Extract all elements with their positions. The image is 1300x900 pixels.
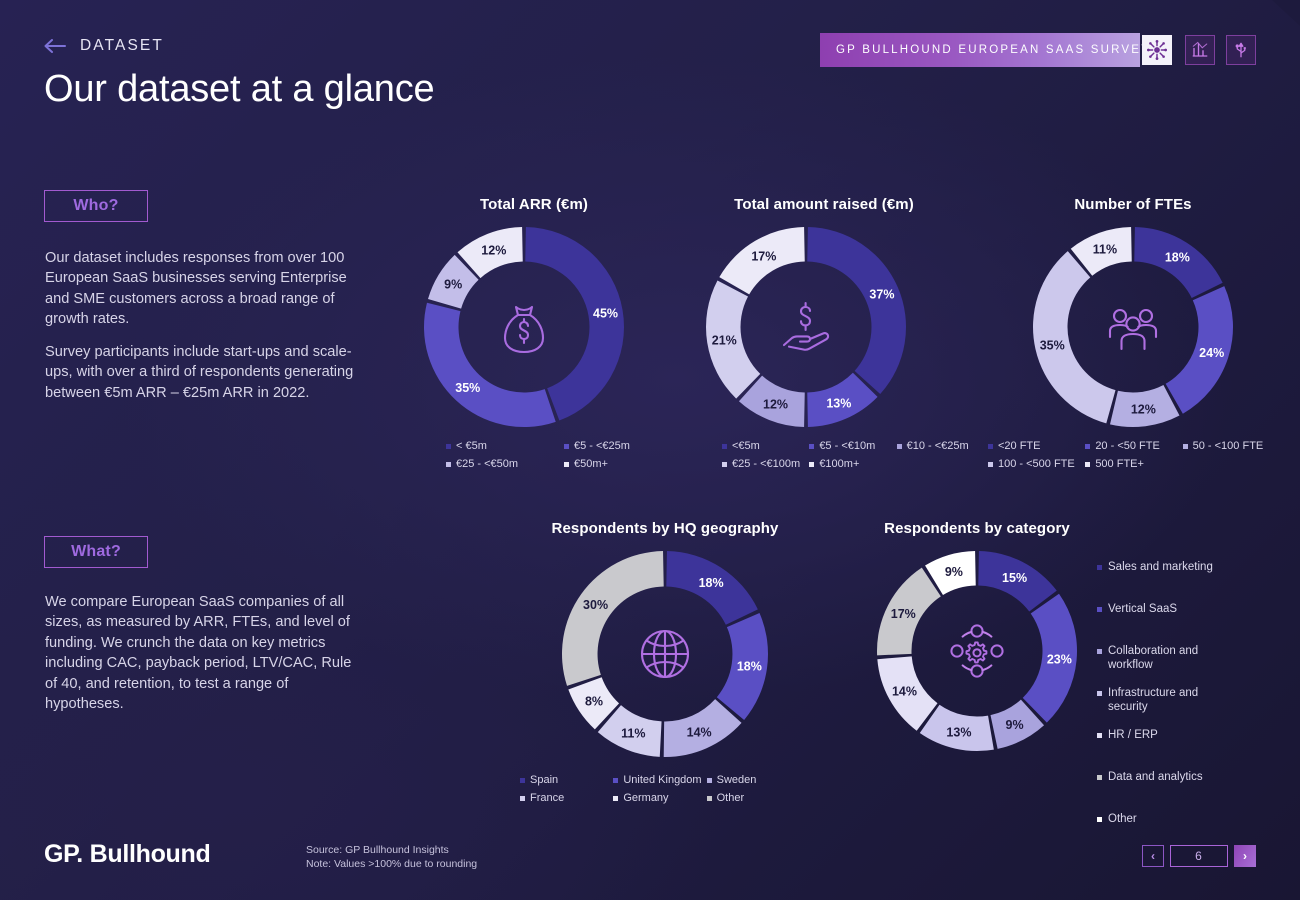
legend-label: €50m+ bbox=[574, 457, 608, 471]
legend-item: Vertical SaaS bbox=[1097, 602, 1227, 640]
legend-swatch bbox=[707, 796, 712, 801]
prev-page-button[interactable]: ‹ bbox=[1142, 845, 1164, 867]
slice-label: 13% bbox=[826, 396, 851, 410]
slice-label: 21% bbox=[712, 333, 737, 347]
legend-swatch bbox=[1097, 691, 1102, 696]
legend-swatch bbox=[446, 444, 451, 449]
brand-banner: GP BULLHOUND EUROPEAN SAAS SURVEY bbox=[820, 33, 1140, 67]
network-icon-glyph bbox=[1146, 39, 1168, 61]
slice-label: 17% bbox=[751, 249, 776, 263]
slide-canvas: DATASET Our dataset at a glance GP BULLH… bbox=[0, 0, 1300, 900]
legend-label: Infrastructure and security bbox=[1108, 686, 1227, 714]
network-icon[interactable] bbox=[1142, 35, 1172, 65]
legend-label: 20 - <50 FTE bbox=[1095, 439, 1160, 453]
legend-swatch bbox=[564, 462, 569, 467]
donut-total-arr[interactable]: 45%35%9%12% bbox=[420, 223, 648, 431]
legend-item: <€5m bbox=[722, 439, 809, 453]
legend-item: Data and analytics bbox=[1097, 770, 1227, 808]
legend-label: 50 - <100 FTE bbox=[1193, 439, 1264, 453]
who-paragraph-2: Survey participants include start-ups an… bbox=[45, 342, 357, 403]
donut-total-raised[interactable]: 37%13%12%21%17% bbox=[702, 223, 946, 431]
legend-label: Sweden bbox=[717, 773, 757, 787]
legend-item: €25 - <€100m bbox=[722, 457, 809, 471]
legend-item: Sweden bbox=[707, 773, 800, 787]
legend-label: 500 FTE+ bbox=[1095, 457, 1144, 471]
legend-item: <20 FTE bbox=[988, 439, 1085, 453]
legend-item: < €5m bbox=[446, 439, 564, 453]
chart-title: Total ARR (€m) bbox=[420, 196, 648, 213]
slice-label: 8% bbox=[585, 695, 603, 709]
legend-swatch bbox=[1097, 607, 1102, 612]
legend-label: < €5m bbox=[456, 439, 487, 453]
slice-label: 30% bbox=[583, 598, 608, 612]
legend-swatch bbox=[897, 444, 902, 449]
legend-swatch bbox=[1097, 733, 1102, 738]
legend-item: Sales and marketing bbox=[1097, 560, 1227, 598]
legend-item: Spain bbox=[520, 773, 613, 787]
who-badge-label: Who? bbox=[73, 197, 118, 215]
legend-total-raised: <€5m €5 - <€10m €10 - <€25m €25 - <€100m… bbox=[722, 439, 984, 475]
donut-slice[interactable] bbox=[1033, 251, 1115, 423]
slice-label: 11% bbox=[1093, 243, 1117, 257]
slice-label: 12% bbox=[481, 243, 506, 257]
legend-label: €100m+ bbox=[819, 457, 859, 471]
legend-swatch bbox=[809, 444, 814, 449]
back-arrow-icon[interactable] bbox=[44, 39, 66, 53]
page-title: Our dataset at a glance bbox=[44, 68, 434, 111]
donut-svg: 15%23%9%13%14%17%9% bbox=[873, 547, 1081, 755]
globe-icon bbox=[642, 631, 688, 677]
chart-hq-geography: Respondents by HQ geography 18%18%14%11%… bbox=[520, 520, 810, 809]
legend-item: HR / ERP bbox=[1097, 728, 1227, 766]
legend-item: 20 - <50 FTE bbox=[1085, 439, 1182, 453]
legend-swatch bbox=[520, 778, 525, 783]
chart-total-arr: Total ARR (€m) 45%35%9%12% < €5m €5 - <€… bbox=[420, 196, 648, 475]
slice-label: 12% bbox=[763, 397, 788, 411]
legend-label: Vertical SaaS bbox=[1108, 602, 1177, 616]
page-number[interactable]: 6 bbox=[1170, 845, 1228, 867]
legend-total-arr: < €5m €5 - <€25m €25 - <€50m €50m+ bbox=[446, 439, 682, 475]
slice-label: 11% bbox=[621, 727, 645, 741]
who-paragraph-1: Our dataset includes responses from over… bbox=[45, 248, 357, 330]
legend-label: Other bbox=[1108, 812, 1137, 826]
bar-chart-icon-glyph bbox=[1191, 41, 1209, 59]
chart-by-category: Respondents by category 15%23%9%13%14%17… bbox=[852, 520, 1102, 763]
breadcrumb: DATASET bbox=[44, 37, 164, 55]
donut-svg: 18%18%14%11%8%30% bbox=[558, 547, 772, 761]
donut-svg: 18%24%12%35%11% bbox=[1029, 223, 1237, 431]
slice-label: 37% bbox=[869, 288, 894, 302]
legend-item: €5 - <€10m bbox=[809, 439, 896, 453]
legend-item: €50m+ bbox=[564, 457, 682, 471]
note-line: Note: Values >100% due to rounding bbox=[306, 857, 477, 871]
legend-swatch bbox=[1097, 817, 1102, 822]
legend-item: Other bbox=[707, 791, 800, 805]
chart-title: Respondents by HQ geography bbox=[520, 520, 810, 537]
slice-label: 9% bbox=[1006, 718, 1024, 732]
hand-dollar-icon bbox=[784, 303, 828, 350]
slice-label: 9% bbox=[444, 278, 462, 292]
donut-slice[interactable] bbox=[807, 227, 906, 394]
donut-svg: 37%13%12%21%17% bbox=[702, 223, 910, 431]
source-line: Source: GP Bullhound Insights bbox=[306, 843, 477, 857]
network-gear-icon bbox=[951, 625, 1002, 676]
slice-label: 13% bbox=[946, 725, 971, 739]
legend-label: Other bbox=[717, 791, 745, 805]
chart-title: Total amount raised (€m) bbox=[702, 196, 946, 213]
legend-swatch bbox=[1183, 444, 1188, 449]
legend-swatch bbox=[707, 778, 712, 783]
brand-banner-label: GP BULLHOUND EUROPEAN SAAS SURVEY bbox=[836, 44, 1151, 56]
legend-swatch bbox=[722, 444, 727, 449]
legend-swatch bbox=[722, 462, 727, 467]
donut-by-category[interactable]: 15%23%9%13%14%17%9% bbox=[873, 547, 1102, 755]
legend-item: 500 FTE+ bbox=[1085, 457, 1182, 471]
legend-label: Data and analytics bbox=[1108, 770, 1203, 784]
legend-item: France bbox=[520, 791, 613, 805]
legend-swatch bbox=[988, 444, 993, 449]
legend-label: €10 - <€25m bbox=[907, 439, 969, 453]
legend-label: €5 - <€10m bbox=[819, 439, 875, 453]
legend-swatch bbox=[446, 462, 451, 467]
chart-number-of-ftes: Number of FTEs 18%24%12%35%11% <20 FTE 2… bbox=[988, 196, 1278, 475]
legend-label: €25 - <€50m bbox=[456, 457, 518, 471]
legend-swatch bbox=[520, 796, 525, 801]
legend-hq-geography: Spain United Kingdom Sweden France Germa… bbox=[520, 773, 800, 809]
legend-label: <€5m bbox=[732, 439, 760, 453]
usb-icon[interactable] bbox=[1226, 35, 1256, 65]
legend-label: <20 FTE bbox=[998, 439, 1041, 453]
legend-swatch bbox=[613, 796, 618, 801]
donut-svg: 45%35%9%12% bbox=[420, 223, 628, 431]
slice-label: 12% bbox=[1131, 403, 1156, 417]
legend-label: €5 - <€25m bbox=[574, 439, 630, 453]
slice-label: 35% bbox=[1040, 339, 1065, 353]
legend-label: €25 - <€100m bbox=[732, 457, 800, 471]
slice-label: 9% bbox=[945, 565, 963, 579]
legend-swatch bbox=[1085, 462, 1090, 467]
slice-label: 14% bbox=[687, 726, 712, 740]
legend-item: Infrastructure and security bbox=[1097, 686, 1227, 724]
what-badge-label: What? bbox=[71, 543, 121, 561]
legend-label: Sales and marketing bbox=[1108, 560, 1213, 574]
legend-label: Spain bbox=[530, 773, 558, 787]
legend-item: 100 - <500 FTE bbox=[988, 457, 1085, 471]
what-paragraph-1: We compare European SaaS companies of al… bbox=[45, 592, 357, 714]
slice-label: 18% bbox=[699, 576, 724, 590]
legend-label: Germany bbox=[623, 791, 668, 805]
chart-title: Respondents by category bbox=[852, 520, 1102, 537]
slice-label: 14% bbox=[892, 684, 917, 698]
donut-number-of-ftes[interactable]: 18%24%12%35%11% bbox=[1029, 223, 1278, 431]
legend-item: €10 - <€25m bbox=[897, 439, 984, 453]
legend-item: Collaboration and workflow bbox=[1097, 644, 1227, 682]
legend-item: €5 - <€25m bbox=[564, 439, 682, 453]
slice-label: 15% bbox=[1002, 571, 1027, 585]
slice-label: 24% bbox=[1199, 346, 1224, 360]
slice-label: 23% bbox=[1047, 652, 1072, 666]
brand-logo: GP. Bullhound bbox=[44, 840, 210, 869]
legend-swatch bbox=[1097, 565, 1102, 570]
bar-chart-icon[interactable] bbox=[1185, 35, 1215, 65]
what-badge: What? bbox=[44, 536, 148, 568]
legend-item: Germany bbox=[613, 791, 706, 805]
pagination: ‹ 6 › bbox=[1142, 845, 1256, 867]
money-bag-icon bbox=[505, 307, 543, 352]
slice-label: 18% bbox=[1165, 251, 1190, 265]
legend-swatch bbox=[613, 778, 618, 783]
legend-item: €100m+ bbox=[809, 457, 896, 471]
breadcrumb-label: DATASET bbox=[80, 37, 164, 55]
people-icon bbox=[1110, 310, 1156, 349]
legend-label: 100 - <500 FTE bbox=[998, 457, 1075, 471]
slice-label: 18% bbox=[737, 660, 762, 674]
legend-label: Collaboration and workflow bbox=[1108, 644, 1227, 672]
donut-hq-geography[interactable]: 18%18%14%11%8%30% bbox=[558, 547, 810, 761]
legend-number-of-ftes: <20 FTE 20 - <50 FTE 50 - <100 FTE 100 -… bbox=[988, 439, 1280, 475]
slice-label: 17% bbox=[891, 607, 916, 621]
legend-swatch bbox=[1097, 775, 1102, 780]
legend-label: France bbox=[530, 791, 564, 805]
source-note: Source: GP Bullhound Insights Note: Valu… bbox=[306, 843, 477, 871]
legend-item: 50 - <100 FTE bbox=[1183, 439, 1280, 453]
legend-swatch bbox=[809, 462, 814, 467]
legend-swatch bbox=[564, 444, 569, 449]
legend-item: United Kingdom bbox=[613, 773, 706, 787]
legend-label: United Kingdom bbox=[623, 773, 701, 787]
chart-title: Number of FTEs bbox=[988, 196, 1278, 213]
slice-label: 45% bbox=[593, 306, 618, 320]
legend-swatch bbox=[988, 462, 993, 467]
legend-item: €25 - <€50m bbox=[446, 457, 564, 471]
who-badge: Who? bbox=[44, 190, 148, 222]
legend-label: HR / ERP bbox=[1108, 728, 1158, 742]
legend-swatch bbox=[1097, 649, 1102, 654]
next-page-button[interactable]: › bbox=[1234, 845, 1256, 867]
legend-by-category: Sales and marketing Vertical SaaS Collab… bbox=[1097, 560, 1227, 854]
slice-label: 35% bbox=[455, 381, 480, 395]
legend-swatch bbox=[1085, 444, 1090, 449]
usb-icon-glyph bbox=[1232, 41, 1250, 59]
chart-total-raised: Total amount raised (€m) 37%13%12%21%17%… bbox=[702, 196, 946, 475]
